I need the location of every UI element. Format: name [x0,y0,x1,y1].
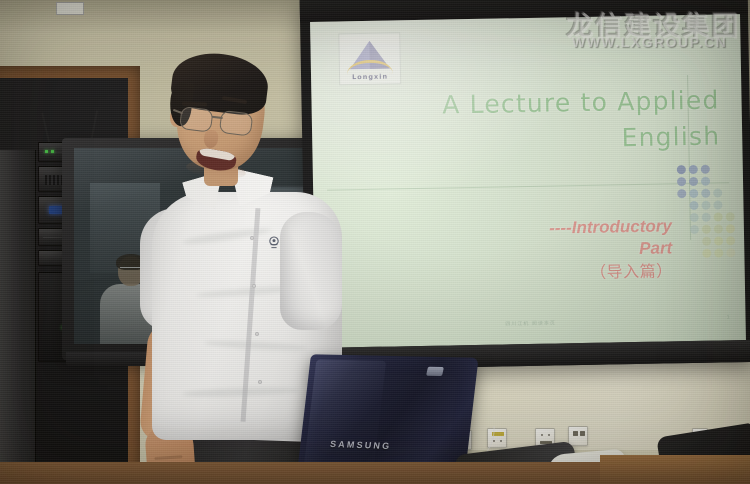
dot-grid-dot [713,188,722,197]
dot-grid-dot [689,165,698,174]
dot-grid-dot [677,165,686,174]
slide-subtitle-line1: ----Introductory [549,216,672,237]
glasses-lens-left [179,106,214,133]
equipment-label-tag [56,2,84,15]
shirt-pocket-logo-icon [268,236,280,249]
socket-hole [548,434,550,436]
dot-grid-dot [726,212,735,221]
socket-hole [541,434,543,436]
dot-grid-dot [701,177,710,186]
shirt-button [258,380,262,384]
dot-grid-dot [690,213,699,222]
dot-grid-dot [713,200,722,209]
dot-grid-dot [701,165,710,174]
dot-grid-dot [689,189,698,198]
socket-hole [500,440,502,442]
laptop-lid-sheen [304,359,386,466]
desk-top-right [600,455,750,484]
lecture-room-screenshot: Longxin A Lecture to Applied English ---… [0,0,750,484]
dot-grid-dot [714,248,723,257]
slide-subtitle-chinese: （导入篇） [435,260,673,285]
projected-slide: Longxin A Lecture to Applied English ---… [310,14,746,348]
slide-horizontal-rule [327,182,729,190]
dot-grid-dot [701,201,710,210]
slide-subtitle: ----Introductory Part （导入篇） [434,215,673,285]
presenter-sleeve-right [280,212,342,330]
dot-grid-dot [714,224,723,233]
dot-grid-dot [726,248,735,257]
slide-content: Longxin A Lecture to Applied English ---… [310,14,746,348]
fabric-fold [204,339,308,351]
dot-grid-dot [689,177,698,186]
dot-grid-dot [689,201,698,210]
slide-title-line2: English [362,119,721,162]
slide-footer: 四川江机 阅读本页 [316,316,746,331]
data-port [580,431,585,436]
slide-title: A Lecture to Applied English [361,82,720,161]
unit-vent [45,175,63,185]
shirt-button [252,284,256,288]
dot-grid-dot [702,213,711,222]
power-led [45,150,48,153]
laptop-hinge-badge [426,367,444,376]
slide-page-number: 1 [727,314,730,320]
dot-grid-dot [702,237,711,246]
projection-screen: Longxin A Lecture to Applied English ---… [300,0,750,370]
dot-grid-dot [714,236,723,245]
socket-hole [493,440,495,442]
fabric-fold [182,386,300,398]
slide-subtitle-line2: Part [639,239,672,259]
rack-glass-door[interactable] [0,150,36,484]
dot-grid-dot [726,224,735,233]
slide-dot-grid [677,162,737,295]
glasses-bridge [212,116,223,119]
dot-grid-dot [702,225,711,234]
dot-grid-dot [677,189,686,198]
dot-grid-dot [701,189,710,198]
watermark-url: WWW.LXGROUP.CN [572,34,727,50]
data-port [573,431,578,436]
shirt-button [250,236,254,240]
glasses-lens-right [219,110,254,137]
dot-grid-dot [690,225,699,234]
laptop-brand-logo: SAMSUNG [329,439,392,451]
finger [154,455,182,460]
dot-grid-dot [714,212,723,221]
shirt-button [255,332,259,336]
dot-grid-dot [702,249,711,258]
signal-led [51,150,54,153]
data-port-plate[interactable] [568,426,588,446]
dot-grid-dot [726,236,735,245]
dot-grid-dot [677,177,686,186]
